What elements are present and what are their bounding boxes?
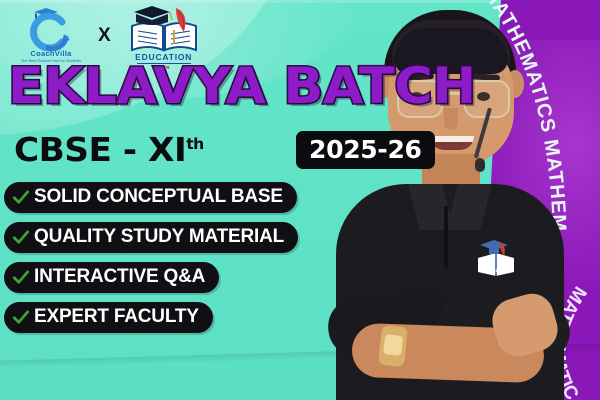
headset-mic-capsule bbox=[475, 158, 485, 172]
feature-label: QUALITY STUDY MATERIAL bbox=[34, 226, 284, 248]
feature-label: INTERACTIVE Q&A bbox=[34, 266, 205, 288]
education-mitr-icon bbox=[126, 6, 202, 54]
course-subtitle: CBSE - XIth bbox=[14, 130, 204, 169]
logo-separator-x: X bbox=[96, 25, 113, 47]
coachvilla-c-icon bbox=[24, 8, 78, 52]
year-badge: 2025-26 bbox=[296, 131, 435, 169]
course-subtitle-text: CBSE - XI bbox=[14, 130, 186, 169]
course-subtitle-superscript: th bbox=[186, 135, 204, 153]
list-item[interactable]: QUALITY STUDY MATERIAL bbox=[4, 222, 298, 253]
poster-canvas: MATHEMATICS MATHEM MATHEMATIC bbox=[0, 0, 600, 400]
check-icon bbox=[12, 228, 30, 246]
presenter-shirt-placket bbox=[444, 206, 448, 268]
feature-label: EXPERT FACULTY bbox=[34, 306, 199, 328]
list-item[interactable]: INTERACTIVE Q&A bbox=[4, 262, 219, 293]
list-item[interactable]: EXPERT FACULTY bbox=[4, 302, 213, 333]
presenter-wristwatch bbox=[378, 325, 408, 367]
page-title: EKLAVYA BATCH bbox=[8, 62, 476, 111]
shirt-education-mitr-logo: EDUCATION bbox=[474, 236, 518, 282]
feature-list: SOLID CONCEPTUAL BASE QUALITY STUDY MATE… bbox=[4, 182, 298, 333]
svg-text:EDUCATION: EDUCATION bbox=[481, 268, 511, 274]
check-icon bbox=[12, 308, 30, 326]
check-icon bbox=[12, 268, 30, 286]
feature-label: SOLID CONCEPTUAL BASE bbox=[34, 186, 283, 208]
presenter-teeth bbox=[430, 136, 474, 142]
check-icon bbox=[12, 188, 30, 206]
list-item[interactable]: SOLID CONCEPTUAL BASE bbox=[4, 182, 297, 213]
